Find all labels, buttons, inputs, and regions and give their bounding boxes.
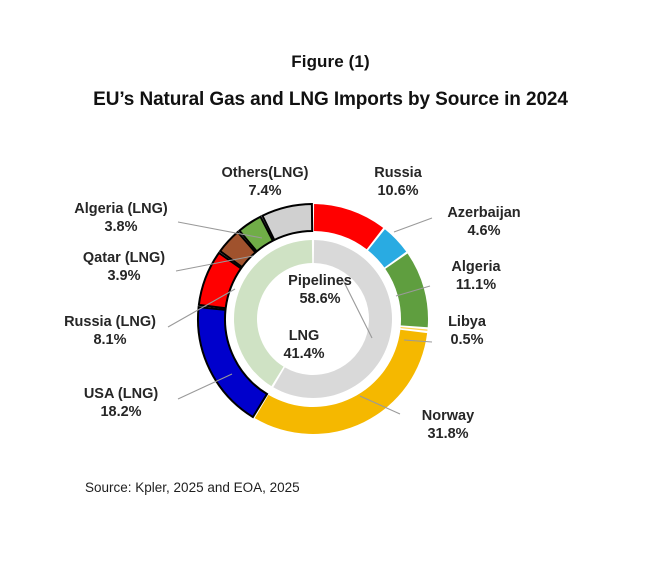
figure-root: Figure (1) EU’s Natural Gas and LNG Impo…: [0, 0, 661, 563]
slice-label-libya: Libya 0.5%: [434, 314, 500, 349]
slice-label-russia-lng-value: 8.1%: [48, 332, 172, 350]
slice-label-russia-lng: Russia (LNG) 8.1%: [48, 314, 172, 349]
slice-label-algeria-lng: Algeria (LNG) 3.8%: [62, 201, 180, 236]
leader-line-azerbaijan: [394, 218, 432, 232]
inner-label-pipelines-name: Pipelines: [288, 273, 352, 289]
slice-label-norway: Norway 31.8%: [404, 408, 492, 443]
slice-label-azerbaijan: Azerbaijan 4.6%: [432, 205, 536, 240]
slice-label-russia-name: Russia: [374, 165, 422, 181]
slice-label-algeria-name: Algeria: [451, 259, 500, 275]
slice-label-libya-value: 0.5%: [434, 332, 500, 350]
slice-label-others-lng: Others(LNG) 7.4%: [205, 165, 325, 200]
slice-label-qatar-lng-value: 3.9%: [68, 268, 180, 286]
slice-label-qatar-lng-name: Qatar (LNG): [83, 250, 165, 266]
slice-label-algeria-lng-value: 3.8%: [62, 219, 180, 237]
slice-label-norway-value: 31.8%: [404, 426, 492, 444]
slice-label-others-lng-value: 7.4%: [205, 183, 325, 201]
slice-label-russia: Russia 10.6%: [355, 165, 441, 200]
slice-label-usa-lng-value: 18.2%: [62, 404, 180, 422]
slice-label-norway-name: Norway: [422, 408, 474, 424]
slice-label-libya-name: Libya: [448, 314, 486, 330]
slice-label-usa-lng: USA (LNG) 18.2%: [62, 386, 180, 421]
outer-ring: [198, 204, 428, 434]
slice-label-qatar-lng: Qatar (LNG) 3.9%: [68, 250, 180, 285]
slice-label-azerbaijan-value: 4.6%: [432, 223, 536, 241]
donut-chart: Others(LNG) 7.4% Algeria (LNG) 3.8% Qata…: [0, 0, 661, 563]
slice-label-algeria-lng-name: Algeria (LNG): [74, 201, 167, 217]
inner-label-pipelines: Pipelines 58.6%: [268, 272, 372, 308]
inner-ring: [234, 240, 392, 398]
inner-label-lng-name: LNG: [289, 328, 320, 344]
slice-label-others-lng-name: Others(LNG): [222, 165, 309, 181]
slice-label-usa-lng-name: USA (LNG): [84, 386, 158, 402]
source-note: Source: Kpler, 2025 and EOA, 2025: [85, 480, 300, 495]
slice-label-algeria: Algeria 11.1%: [434, 259, 518, 294]
slice-label-russia-lng-name: Russia (LNG): [64, 314, 156, 330]
inner-label-lng: LNG 41.4%: [252, 327, 356, 363]
inner-label-lng-value: 41.4%: [283, 346, 324, 362]
slice-label-algeria-value: 11.1%: [434, 277, 518, 295]
slice-label-azerbaijan-name: Azerbaijan: [447, 205, 520, 221]
inner-label-pipelines-value: 58.6%: [299, 291, 340, 307]
slice-label-russia-value: 10.6%: [355, 183, 441, 201]
